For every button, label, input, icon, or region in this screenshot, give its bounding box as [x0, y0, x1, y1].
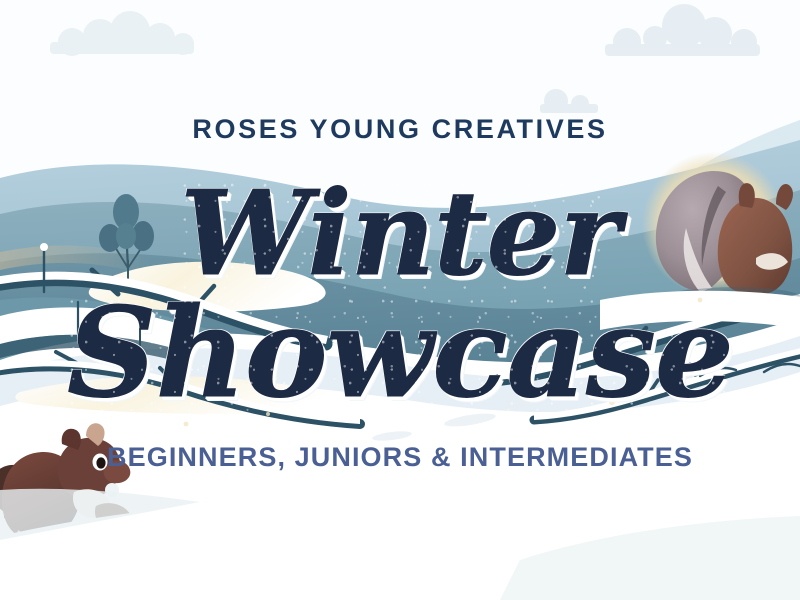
winter-showcase-poster: ROSES YOUNG CREATIVES Winter Showcase BE… — [0, 0, 800, 600]
poster-eyebrow: ROSES YOUNG CREATIVES — [0, 114, 800, 145]
poster-title-showcase: Showcase — [67, 292, 733, 416]
poster-title-line-2: Showcase — [0, 292, 800, 416]
poster-title-line-1: Winter — [0, 176, 800, 292]
poster-title-winter: Winter — [180, 176, 619, 292]
poster-subtitle: BEGINNERS, JUNIORS & INTERMEDIATES — [0, 442, 800, 473]
